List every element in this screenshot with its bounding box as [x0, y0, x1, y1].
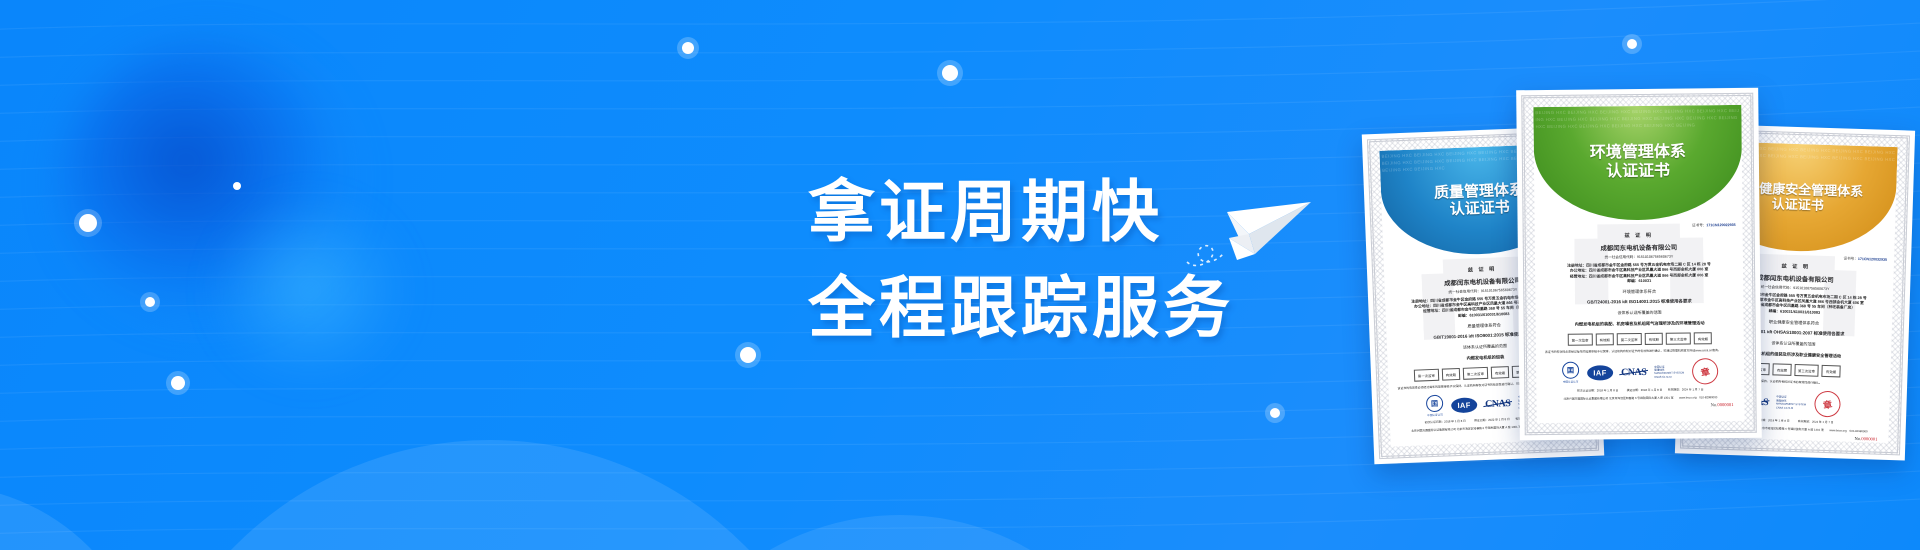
decorative-dot [79, 214, 97, 232]
management-system-caption: 中国认证 管理体系 MANAGEMENT SYSTEM CNAS C174-M [1654, 365, 1684, 379]
background-glow-cyan [210, 195, 410, 385]
certificate-logo-row: 囯 中国认证认可 IAF CNAS 中国认证 管理体系 MANAGEMENT S… [1543, 358, 1737, 386]
table-cell: 第一次监审 [1414, 369, 1439, 382]
hero-banner: 拿证周期快 全程跟踪服务 BEIJING HXC BEIJING HXC BEI… [0, 0, 1920, 550]
certificate-number: No.0000001 [1543, 402, 1737, 409]
decorative-dot [942, 65, 958, 81]
decorative-dot [682, 42, 694, 54]
iaf-logo-icon: IAF [1451, 397, 1478, 413]
certificate-footer-dates: 初次认证日期：2018 年 1 月 8 日 换证日期：2018 年 1 月 8 … [1543, 388, 1737, 394]
certificate-credit-code: 统一社会信用代码：91510106756560673Y [1542, 254, 1736, 261]
certificate-footer-issuer: 北京兴国方圆国际认证集团有限公司 北京市海淀区知春路 6 号锦秋国际大厦 A 座… [1543, 396, 1737, 402]
decorative-dot [233, 182, 241, 190]
iaf-logo-icon: IAF [1587, 365, 1613, 380]
headline-line-1: 拿证周期快 [808, 165, 1234, 261]
table-cell: 有效期 [1822, 365, 1841, 378]
red-official-seal-icon: 章 [1812, 389, 1842, 419]
decorative-dot [1627, 39, 1637, 49]
certificate-audit-table: 第一次监审 有效期 第二次监审 有效期 第三次监审 有效期 [1543, 332, 1737, 346]
certificate-body: 证书号：171CN120022935 兹 证 明 成都闰东电机设备有限公司 统一… [1535, 219, 1745, 409]
certificate-scope: 内燃发电机组的装配、机房噪音及机组尾气治理所涉及的环境管理活动 [1543, 320, 1737, 328]
certificate-scope-label: 该体系认证所覆盖的范围 [1542, 309, 1736, 317]
table-cell: 有效期 [1645, 333, 1663, 345]
certificate-group: BEIJING HXC BEIJING HXC BEIJING HXC BEIJ… [1350, 95, 1920, 495]
management-system-caption: 中国认证 管理体系 MANAGEMENT SYSTEM CNAS C174-M [1776, 396, 1806, 411]
table-cell: 有效期 [1694, 333, 1712, 345]
certificate-standard: GB/T24001-2016 idt ISO14001:2015 标准使用各要求 [1542, 298, 1736, 306]
cnca-logo-icon: 囯 中国认证认可 [1562, 362, 1579, 384]
cnca-logo-icon: 囯 中国认证认可 [1426, 395, 1444, 418]
table-cell: 第三次监审 [1666, 333, 1691, 345]
table-cell: 第三次监审 [1794, 364, 1819, 377]
certificate-system-name: 环境管理体系符合 [1542, 288, 1736, 296]
headline-line-2: 全程跟踪服务 [808, 261, 1234, 357]
table-cell: 第一次监审 [1568, 334, 1593, 346]
cnas-logo-icon: CNAS [1485, 398, 1511, 410]
table-cell: 有效期 [1491, 366, 1510, 379]
certificate-header-green: BEIJING HXC BEIJING HXC BEIJING HXC BEIJ… [1533, 105, 1742, 221]
cnas-logo-icon: CNAS [1621, 367, 1646, 378]
certificate-note: 该证书的有效性必须经过每年的监督审核予以保持，认证机构有权对证书的有效性进行确认… [1543, 348, 1737, 354]
table-cell: 第二次监审 [1617, 333, 1642, 345]
decorative-dot [171, 376, 185, 390]
table-cell: 有效期 [1595, 334, 1613, 346]
certificate-environmental-management-system: BEIJING HXC BEIJING HXC BEIJING HXC BEIJ… [1516, 88, 1762, 441]
red-official-seal-icon: 章 [1690, 356, 1721, 387]
decorative-dot [145, 297, 155, 307]
table-cell: 有效期 [1442, 368, 1461, 381]
table-cell: 第二次监审 [1463, 367, 1488, 380]
decorative-dot [740, 347, 756, 363]
table-cell: 有效期 [1773, 364, 1792, 377]
certificate-title: 质量管理体系 认证证书 [1434, 181, 1525, 220]
decorative-dot [1270, 408, 1280, 418]
headline: 拿证周期快 全程跟踪服务 [808, 165, 1234, 357]
certificate-title: 环境管理体系 认证证书 [1590, 144, 1686, 183]
paper-plane-icon [1185, 182, 1325, 272]
